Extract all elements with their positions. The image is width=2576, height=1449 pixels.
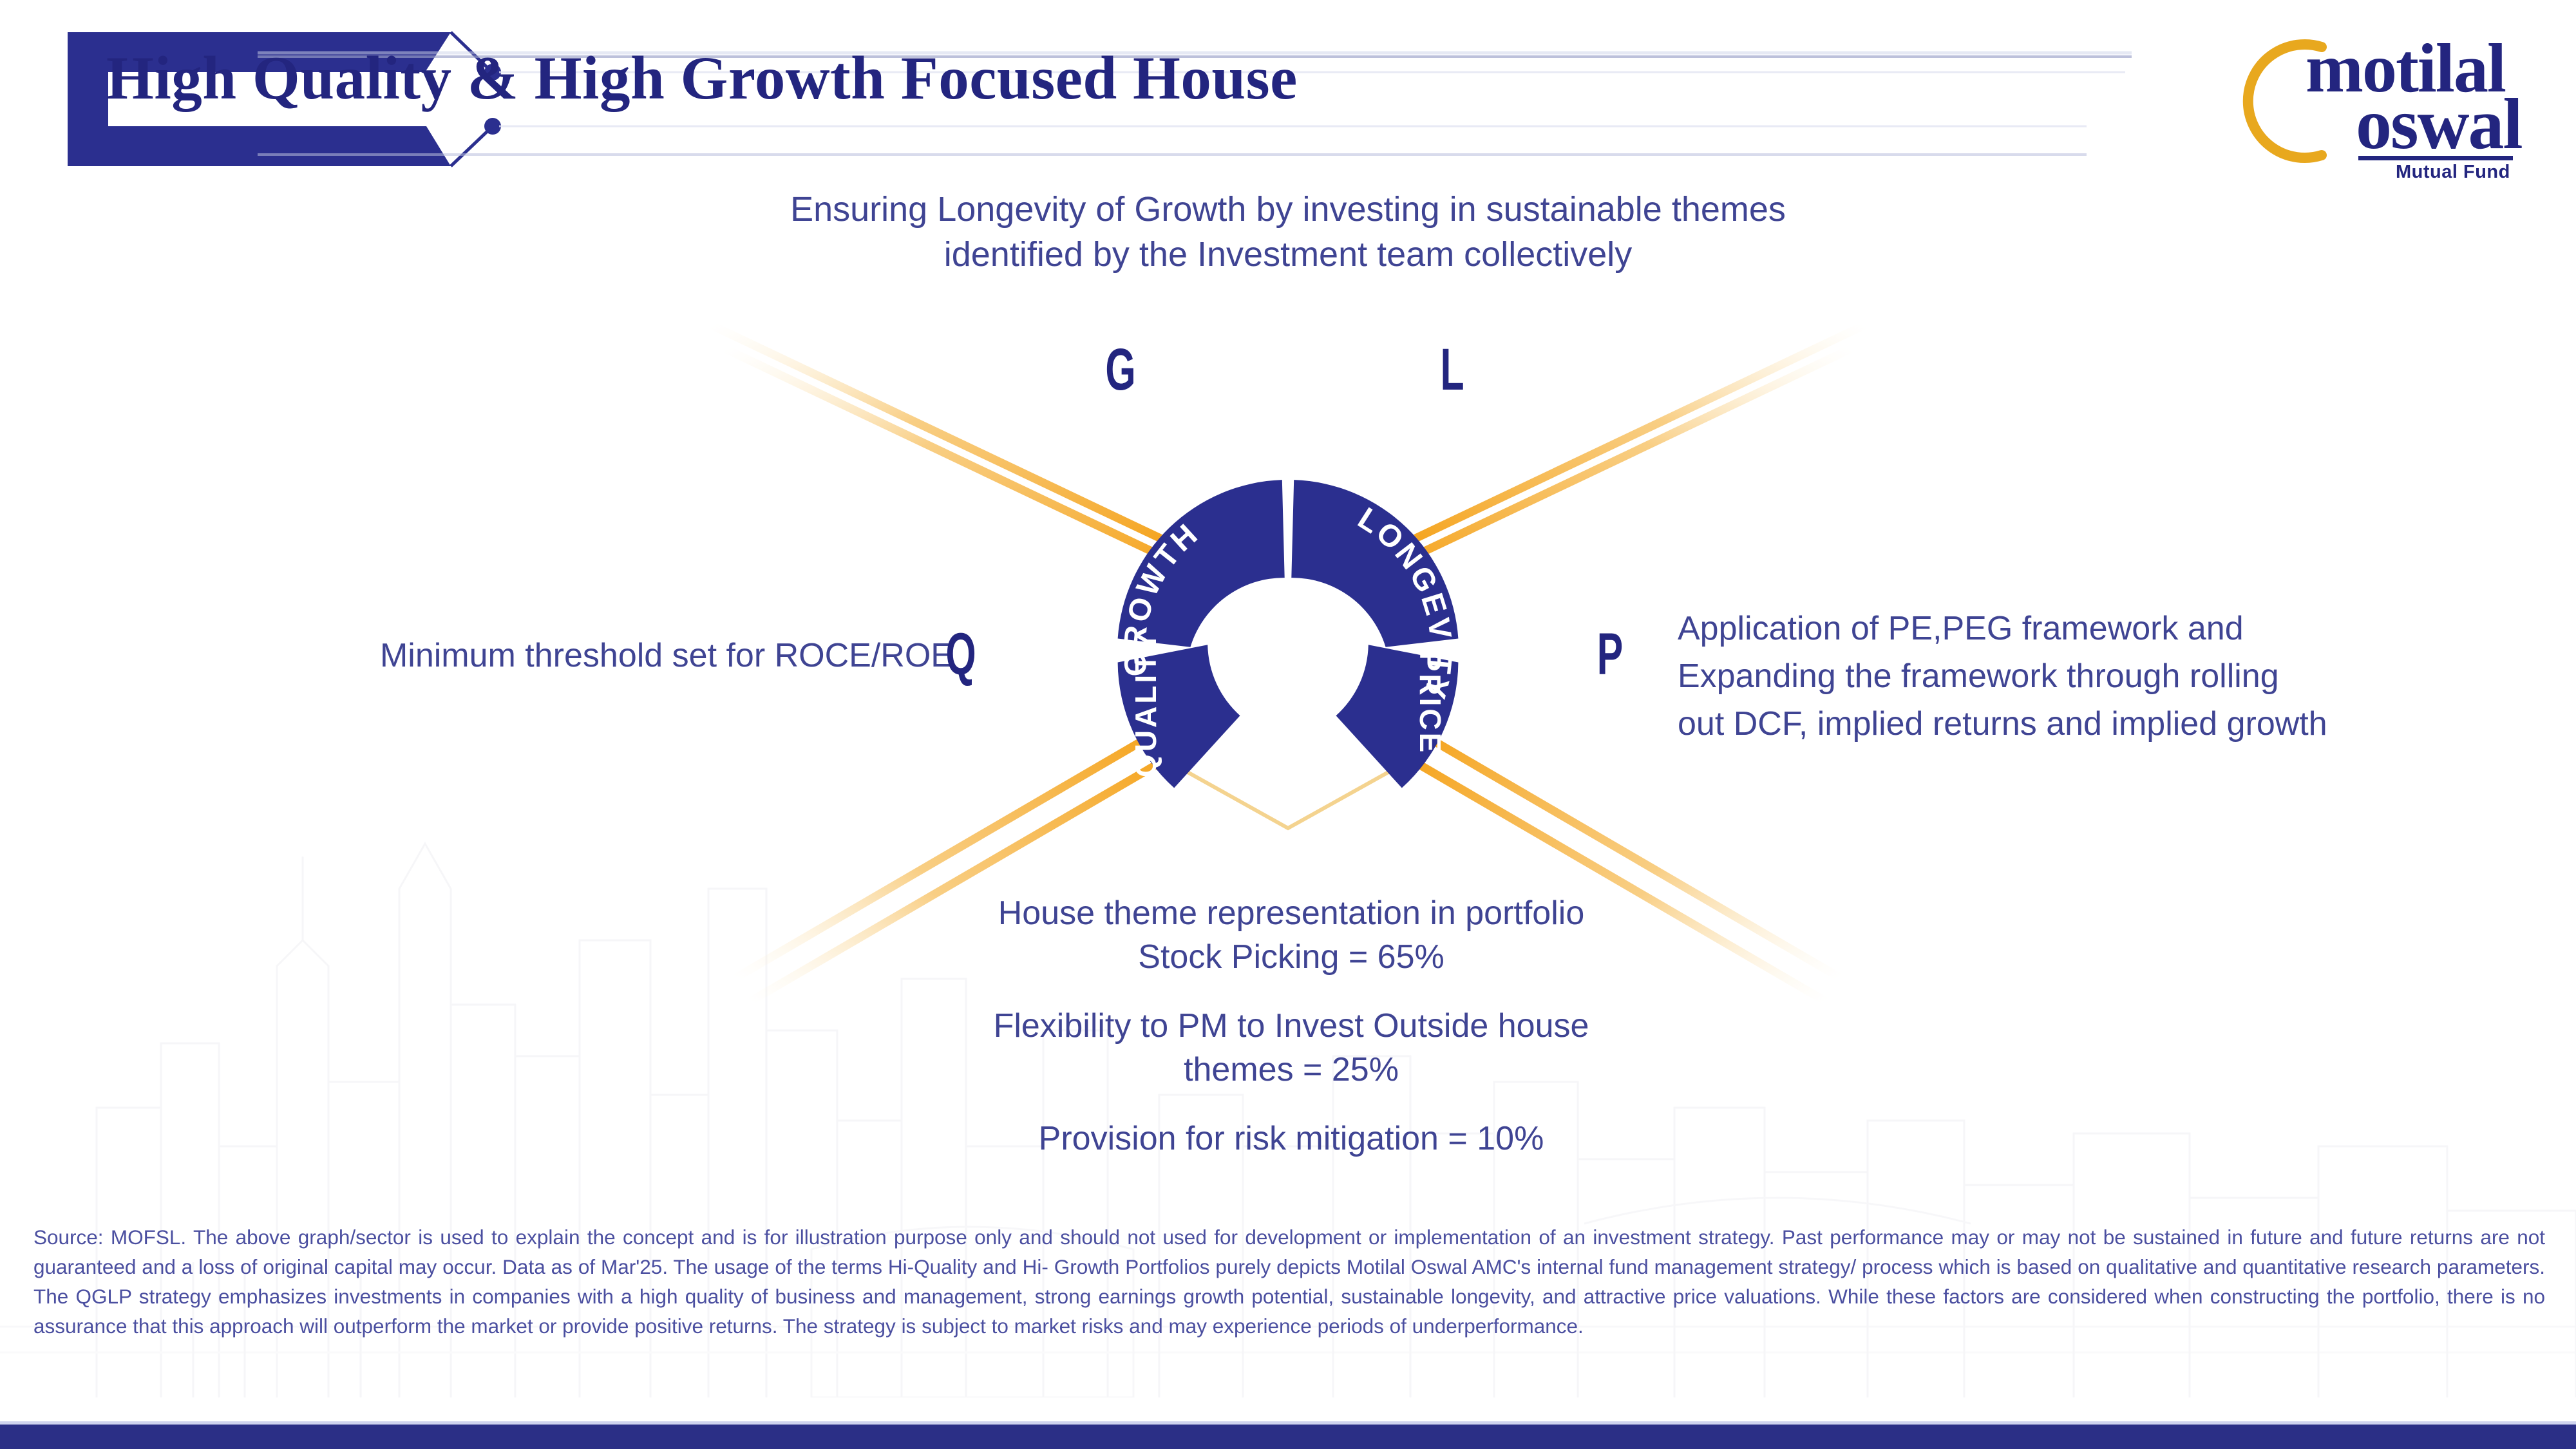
gold-chevron [1166, 760, 1410, 828]
slide-canvas: High Quality & High Growth Focused House… [0, 0, 2576, 1449]
caption-top-text: Ensuring Longevity of Growth by investin… [790, 190, 1786, 274]
caption-right: Application of PE,PEG framework and Expa… [1678, 605, 2328, 748]
caption-right-text: Application of PE,PEG framework and Expa… [1678, 610, 2327, 743]
caption-bottom-block-2: Flexibility to PM to Invest Outside hous… [966, 1005, 1616, 1092]
donut-segments [1118, 480, 1459, 788]
qglp-letter-q: Q [935, 625, 986, 684]
qglp-letter-g: G [1095, 340, 1146, 399]
caption-bottom-block-1: House theme representation in portfolio … [966, 892, 1616, 979]
qglp-letter-p: P [1584, 625, 1635, 684]
donut-label-quality: QUALITY [1129, 629, 1162, 777]
caption-bottom-block-3: Provision for risk mitigation = 10% [966, 1117, 1616, 1161]
caption-left-text: Minimum threshold set for ROCE/ROE [380, 637, 953, 674]
caption-bottom: House theme representation in portfolio … [966, 892, 1616, 1161]
donut-label-price: PRICE [1414, 652, 1447, 755]
footer-bar [0, 1425, 2576, 1449]
caption-left: Minimum threshold set for ROCE/ROE [296, 634, 953, 678]
qglp-letter-l: L [1426, 340, 1477, 399]
disclaimer-text: Source: MOFSL. The above graph/sector is… [33, 1222, 2545, 1341]
caption-top: Ensuring Longevity of Growth by investin… [728, 187, 1848, 277]
